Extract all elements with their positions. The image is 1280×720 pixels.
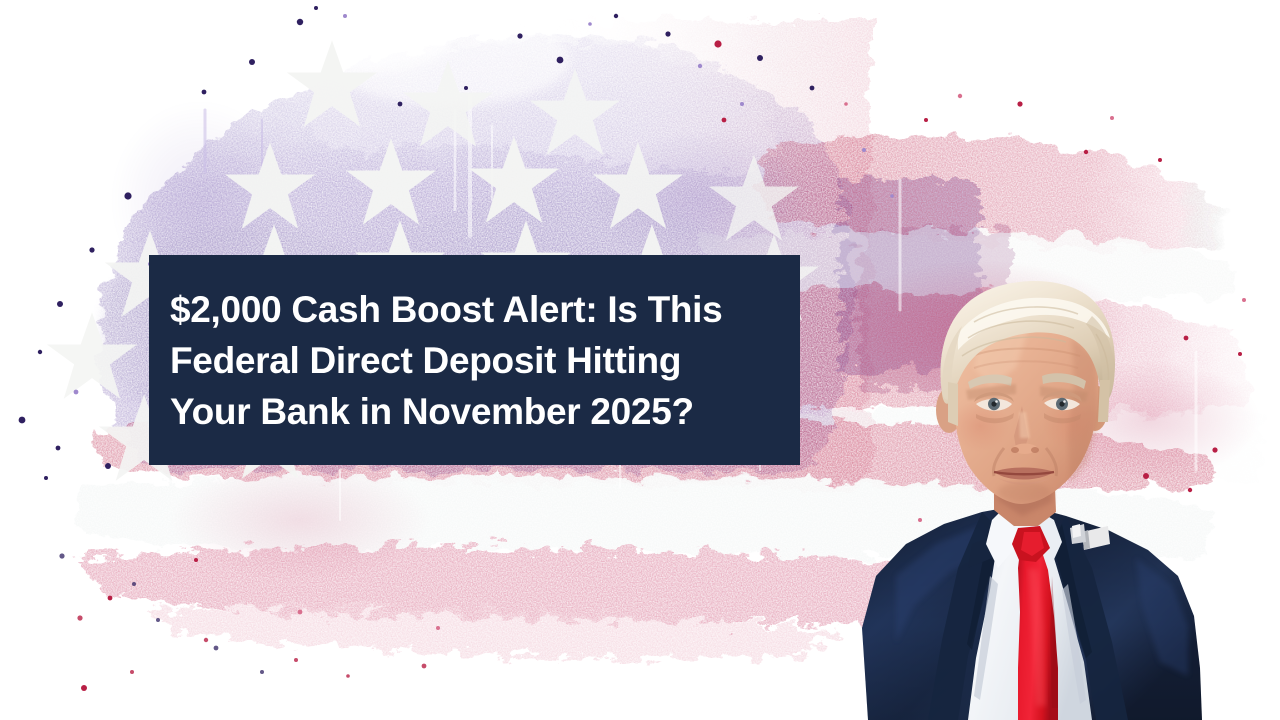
thumbnail-canvas: $2,000 Cash Boost Alert: Is This Federal… <box>0 0 1280 720</box>
headline-title: $2,000 Cash Boost Alert: Is This Federal… <box>149 284 740 437</box>
headline-banner: $2,000 Cash Boost Alert: Is This Federal… <box>149 255 800 465</box>
portrait-man-in-navy-suit <box>736 276 1280 720</box>
